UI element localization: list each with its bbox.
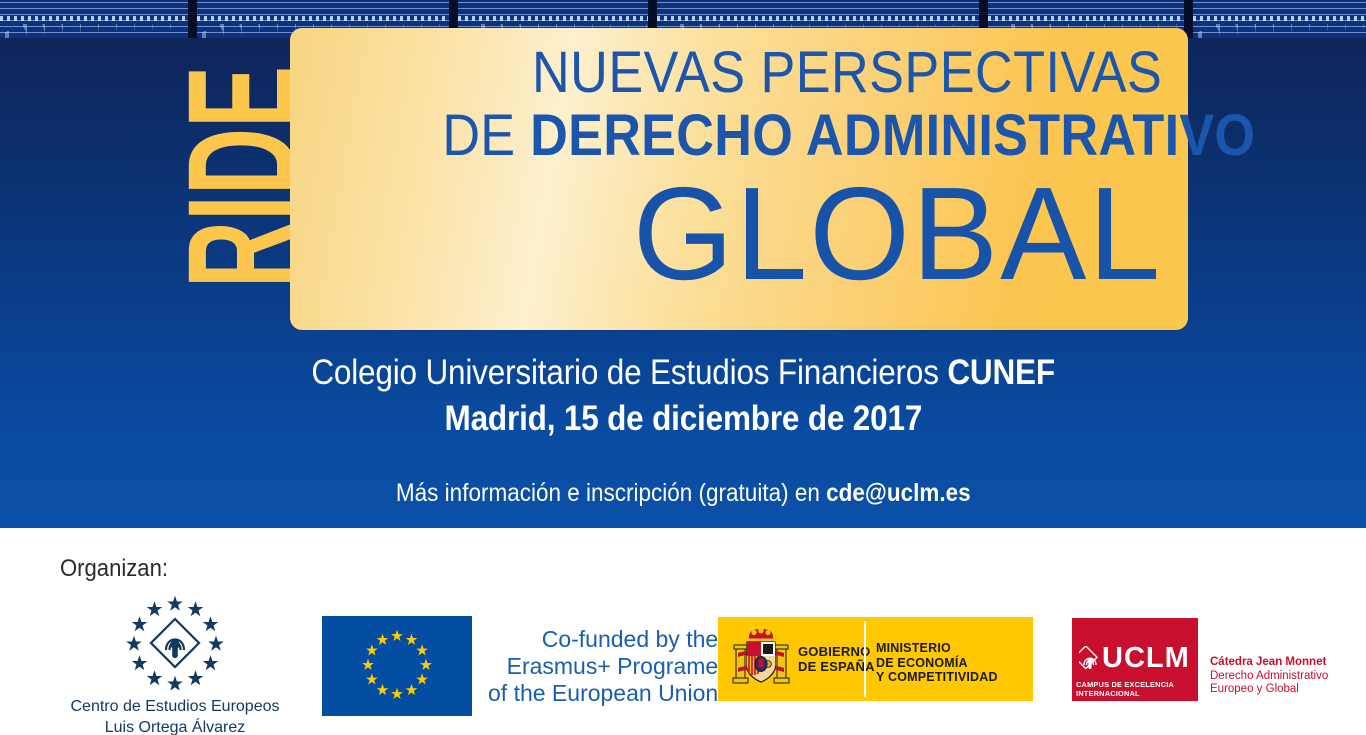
organizan-label-text: Organizan:	[60, 555, 168, 583]
title-panel: NUEVAS PERSPECTIVAS DE DERECHO ADMINISTR…	[290, 28, 1188, 330]
uclm-tagline: CAMPUS DE EXCELENCIA INTERNACIONAL	[1076, 680, 1198, 698]
title-line-1: NUEVAS PERSPECTIVAS	[352, 42, 1162, 104]
title-line-1-text: NUEVAS PERSPECTIVAS	[532, 42, 1162, 104]
logo-erasmus-plus: Co-funded by the Erasmus+ Programe of th…	[322, 616, 718, 716]
venue-date: Madrid, 15 de diciembre de 2017	[0, 395, 1366, 443]
sponsors-footer: Organizan:	[0, 528, 1366, 735]
eu-flag-icon	[322, 616, 472, 716]
venue-date-text: Madrid, 15 de diciembre de 2017	[444, 395, 922, 443]
uclm-chair-line-2: Derecho Administrativo	[1210, 670, 1328, 684]
ces-caption-line-2: Luis Ortega Álvarez	[60, 717, 290, 735]
uclm-chair-line-1: Cátedra Jean Monnet	[1210, 656, 1328, 670]
poster-root: RIDE NUEVAS PERSPECTIVAS DE DERECHO ADMI…	[0, 0, 1366, 735]
ministerio-label-line-3: Y COMPETITIVIDAD	[876, 670, 998, 685]
title-line-2: DE DERECHO ADMINISTRATIVO	[352, 104, 1162, 168]
logo-uclm: UCLM CAMPUS DE EXCELENCIA INTERNACIONAL …	[1072, 618, 1328, 701]
title-line-2-bold: DERECHO ADMINISTRATIVO	[530, 103, 1255, 168]
uclm-wordmark: UCLM	[1102, 644, 1190, 673]
erasmus-caption-line-2: Erasmus+ Programe	[488, 653, 718, 680]
ministerio-label-line-1: MINISTERIO	[876, 641, 998, 656]
ces-caption-line-1: Centro de Estudios Europeos	[60, 696, 290, 717]
organizan-label: Organizan:	[60, 555, 177, 583]
ces-stars-circle-icon	[122, 594, 228, 690]
erasmus-caption: Co-funded by the Erasmus+ Programe of th…	[488, 626, 718, 707]
ces-emblem-icon	[122, 594, 228, 690]
erasmus-caption-line-1: Co-funded by the	[488, 626, 718, 653]
ministerio-label-line-2: DE ECONOMÍA	[876, 656, 998, 671]
uclm-chair-caption: Cátedra Jean Monnet Derecho Administrati…	[1210, 656, 1328, 697]
ces-caption: Centro de Estudios Europeos Luis Ortega …	[60, 696, 290, 735]
ces-diamond-icon	[151, 619, 199, 667]
uclm-emblem-icon	[1079, 646, 1101, 672]
contact-email[interactable]: cde@uclm.es	[826, 479, 971, 507]
title-line-3-text: GLOBAL	[633, 170, 1162, 298]
ride-brand-mark: RIDE	[182, 22, 300, 332]
venue-place-bold: CUNEF	[947, 353, 1055, 392]
spain-coat-of-arms-icon	[732, 626, 790, 692]
title-line-2-prefix: DE	[442, 103, 530, 168]
contact-info: Más información e inscripción (gratuita)…	[0, 478, 1366, 508]
logo-centro-estudios-europeos: Centro de Estudios Europeos Luis Ortega …	[60, 594, 290, 735]
title-line-3: GLOBAL	[352, 170, 1162, 298]
venue-place-prefix: Colegio Universitario de Estudios Financ…	[311, 353, 947, 392]
uclm-chair-line-3: Europeo y Global	[1210, 683, 1328, 697]
logo-gobierno-de-espana: GOBIERNO DE ESPAÑA MINISTERIO DE ECONOMÍ…	[718, 617, 1033, 701]
venue-place: Colegio Universitario de Estudios Financ…	[0, 350, 1366, 395]
gobierno-divider	[864, 621, 866, 697]
ministerio-label: MINISTERIO DE ECONOMÍA Y COMPETITIVIDAD	[876, 641, 998, 685]
title-block: NUEVAS PERSPECTIVAS DE DERECHO ADMINISTR…	[352, 42, 1162, 298]
erasmus-caption-line-3: of the European Union	[488, 680, 718, 707]
contact-info-prefix: Más información e inscripción (gratuita)…	[396, 479, 826, 507]
venue-block: Colegio Universitario de Estudios Financ…	[0, 350, 1366, 443]
poster-hero: RIDE NUEVAS PERSPECTIVAS DE DERECHO ADMI…	[0, 0, 1366, 528]
